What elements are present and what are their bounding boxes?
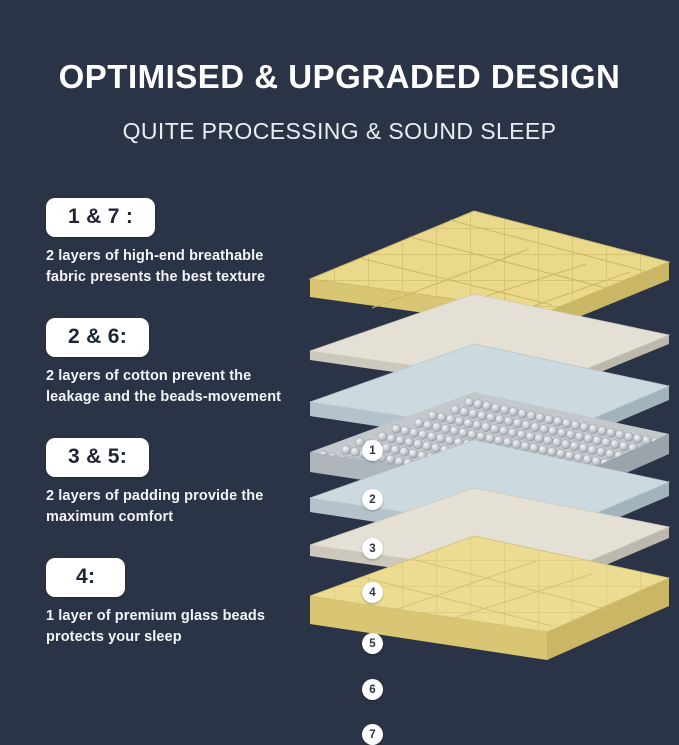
layer-badge-2: 2 xyxy=(362,489,383,510)
layer-badge-4: 4 xyxy=(362,582,383,603)
callout-chip-3: 3 & 5: xyxy=(46,438,149,477)
page-title: OPTIMISED & UPGRADED DESIGN xyxy=(0,58,679,96)
callout-text-1: 2 layers of high-end breathable fabric p… xyxy=(46,246,290,288)
layer-badge-7: 7 xyxy=(362,724,383,745)
layer-badge-5: 5 xyxy=(362,633,383,654)
layer-stack-diagram: 1 2 3 xyxy=(300,176,679,646)
callout-list: 1 & 7 : 2 layers of high-end breathable … xyxy=(46,198,304,678)
callout-item-2: 2 & 6: 2 layers of cotton prevent the le… xyxy=(46,318,304,408)
callout-item-4: 4: 1 layer of premium glass beads protec… xyxy=(46,558,304,648)
callout-chip-2: 2 & 6: xyxy=(46,318,149,357)
callout-chip-1: 1 & 7 : xyxy=(46,198,155,237)
callout-text-4: 1 layer of premium glass beads protects … xyxy=(46,606,290,648)
callout-item-1: 1 & 7 : 2 layers of high-end breathable … xyxy=(46,198,304,288)
infographic-canvas: OPTIMISED & UPGRADED DESIGN QUITE PROCES… xyxy=(0,0,679,679)
layer-7-breathable-fabric xyxy=(300,534,630,684)
page-subtitle: QUITE PROCESSING & SOUND SLEEP xyxy=(0,118,679,145)
callout-chip-4: 4: xyxy=(46,558,125,597)
callout-item-3: 3 & 5: 2 layers of padding provide the m… xyxy=(46,438,304,528)
layer-badge-6: 6 xyxy=(362,679,383,700)
layer-badge-1: 1 xyxy=(362,440,383,461)
layer-badge-3: 3 xyxy=(362,538,383,559)
callout-text-3: 2 layers of padding provide the maximum … xyxy=(46,486,290,528)
callout-text-2: 2 layers of cotton prevent the leakage a… xyxy=(46,366,290,408)
